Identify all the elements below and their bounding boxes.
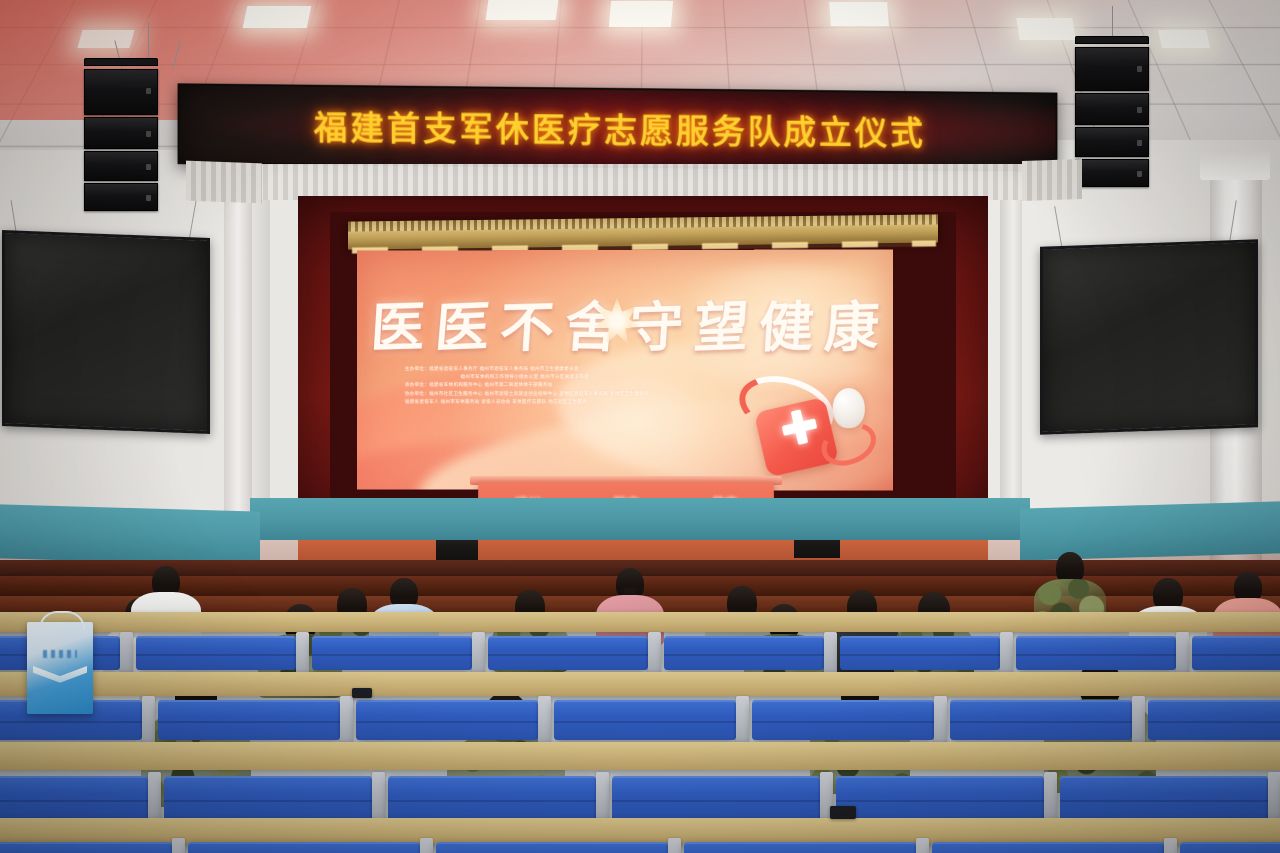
headline-char: 医 xyxy=(369,300,426,355)
headline-char: 望 xyxy=(692,299,750,355)
speaker-box xyxy=(84,69,158,115)
seat-back[interactable] xyxy=(840,636,1000,670)
stage-led-screen: 医 医 不 舍 守 望 健 康 主办单位：福建省退役军人事务厅 福州市退役军人事… xyxy=(357,249,893,490)
medical-graphic xyxy=(734,374,883,484)
wall-fluting-center xyxy=(258,164,1028,200)
desk-row xyxy=(0,818,1280,844)
ceiling-panel-light xyxy=(1016,18,1075,40)
line-array-speaker-right xyxy=(1075,36,1149,189)
speaker-rigging-wire xyxy=(1112,6,1113,38)
seat-back[interactable] xyxy=(356,700,538,740)
seat-back[interactable] xyxy=(1060,776,1268,822)
seat-back[interactable] xyxy=(664,636,824,670)
ceiling-panel-light xyxy=(829,2,889,26)
wall-fluting-left xyxy=(186,161,262,204)
ceiling-panel-light xyxy=(609,1,673,27)
seat-back[interactable] xyxy=(388,776,596,822)
seat-back[interactable] xyxy=(0,776,148,822)
seat-divider xyxy=(172,838,185,853)
seat-back[interactable] xyxy=(164,776,372,822)
credit-line: 主办单位：福建省退役军人事务厅 福州市退役军人事务局 福州市卫生健康委员会 xyxy=(405,366,855,374)
speaker-box xyxy=(84,151,158,181)
wainscot-band-center xyxy=(250,498,1030,540)
auditorium-scene: 福建首支军休医疗志愿服务队成立仪式 医 医 不 舍 守 望 健 康 主办单位：福… xyxy=(0,0,1280,853)
desk-row xyxy=(0,612,1280,632)
ceiling-panel-light xyxy=(1158,30,1210,48)
wall-pilaster-left-2 xyxy=(252,170,270,520)
seat-divider xyxy=(916,838,929,853)
speaker-box xyxy=(84,117,158,149)
seat-back[interactable] xyxy=(612,776,820,822)
headline-char: 康 xyxy=(823,299,881,355)
audience-member xyxy=(131,566,201,644)
desk-row xyxy=(0,742,1280,770)
speaker-box xyxy=(1075,159,1149,187)
seat-back[interactable] xyxy=(1180,842,1280,853)
seat-divider xyxy=(1164,838,1177,853)
wall-pilaster-left xyxy=(224,170,252,530)
gift-bag-chevron xyxy=(33,666,87,688)
headline-char: 医 xyxy=(433,299,491,355)
desk-row xyxy=(0,672,1280,696)
speaker-box xyxy=(84,183,158,211)
led-banner: 福建首支军休医疗志愿服务队成立仪式 xyxy=(178,83,1058,171)
seat-back[interactable] xyxy=(752,700,934,740)
wainscot-band-left xyxy=(0,504,260,565)
seat-back[interactable] xyxy=(932,842,1164,853)
speaker-box xyxy=(1075,47,1149,91)
column-capital-right xyxy=(1200,150,1270,180)
seat-back[interactable] xyxy=(684,842,916,853)
seat-back[interactable] xyxy=(554,700,736,740)
mobile-phone-on-desk[interactable] xyxy=(352,688,372,698)
seat-back[interactable] xyxy=(136,636,296,670)
headline-char: 不 xyxy=(498,299,555,354)
speaker-box xyxy=(1075,93,1149,125)
seat-divider xyxy=(668,838,681,853)
seat-back[interactable] xyxy=(950,700,1132,740)
seat-back[interactable] xyxy=(312,636,472,670)
seat-back[interactable] xyxy=(488,636,648,670)
speaker-yoke xyxy=(1075,36,1149,44)
seat-back[interactable] xyxy=(1016,636,1176,670)
speaker-box xyxy=(1075,127,1149,157)
ceiling-panel-light xyxy=(77,30,134,48)
seat-divider xyxy=(420,838,433,853)
seat-back[interactable] xyxy=(1192,636,1280,670)
gift-bag-logo xyxy=(43,650,77,658)
gift-bag[interactable] xyxy=(27,622,93,714)
mobile-phone-on-desk[interactable] xyxy=(830,806,856,819)
seat-back[interactable] xyxy=(1148,700,1280,740)
wall-display-left[interactable] xyxy=(2,230,210,434)
ceiling-panel-light xyxy=(486,0,559,20)
led-banner-text: 福建首支军休医疗志愿服务队成立仪式 xyxy=(314,101,926,155)
speaker-rigging-wire xyxy=(148,22,149,62)
headline-char: 健 xyxy=(758,299,816,355)
wall-pilaster-right-inner xyxy=(1000,165,1022,525)
seat-back[interactable] xyxy=(188,842,420,853)
seat-back[interactable] xyxy=(836,776,1044,822)
line-array-speaker-left xyxy=(84,58,158,213)
seat-back[interactable] xyxy=(158,700,340,740)
ceiling-panel-light xyxy=(243,6,312,28)
seat-back[interactable] xyxy=(0,842,172,853)
wall-display-right[interactable] xyxy=(1040,239,1258,435)
seat-back[interactable] xyxy=(436,842,668,853)
wall-fluting-right xyxy=(1022,159,1082,201)
speaker-yoke xyxy=(84,58,158,66)
